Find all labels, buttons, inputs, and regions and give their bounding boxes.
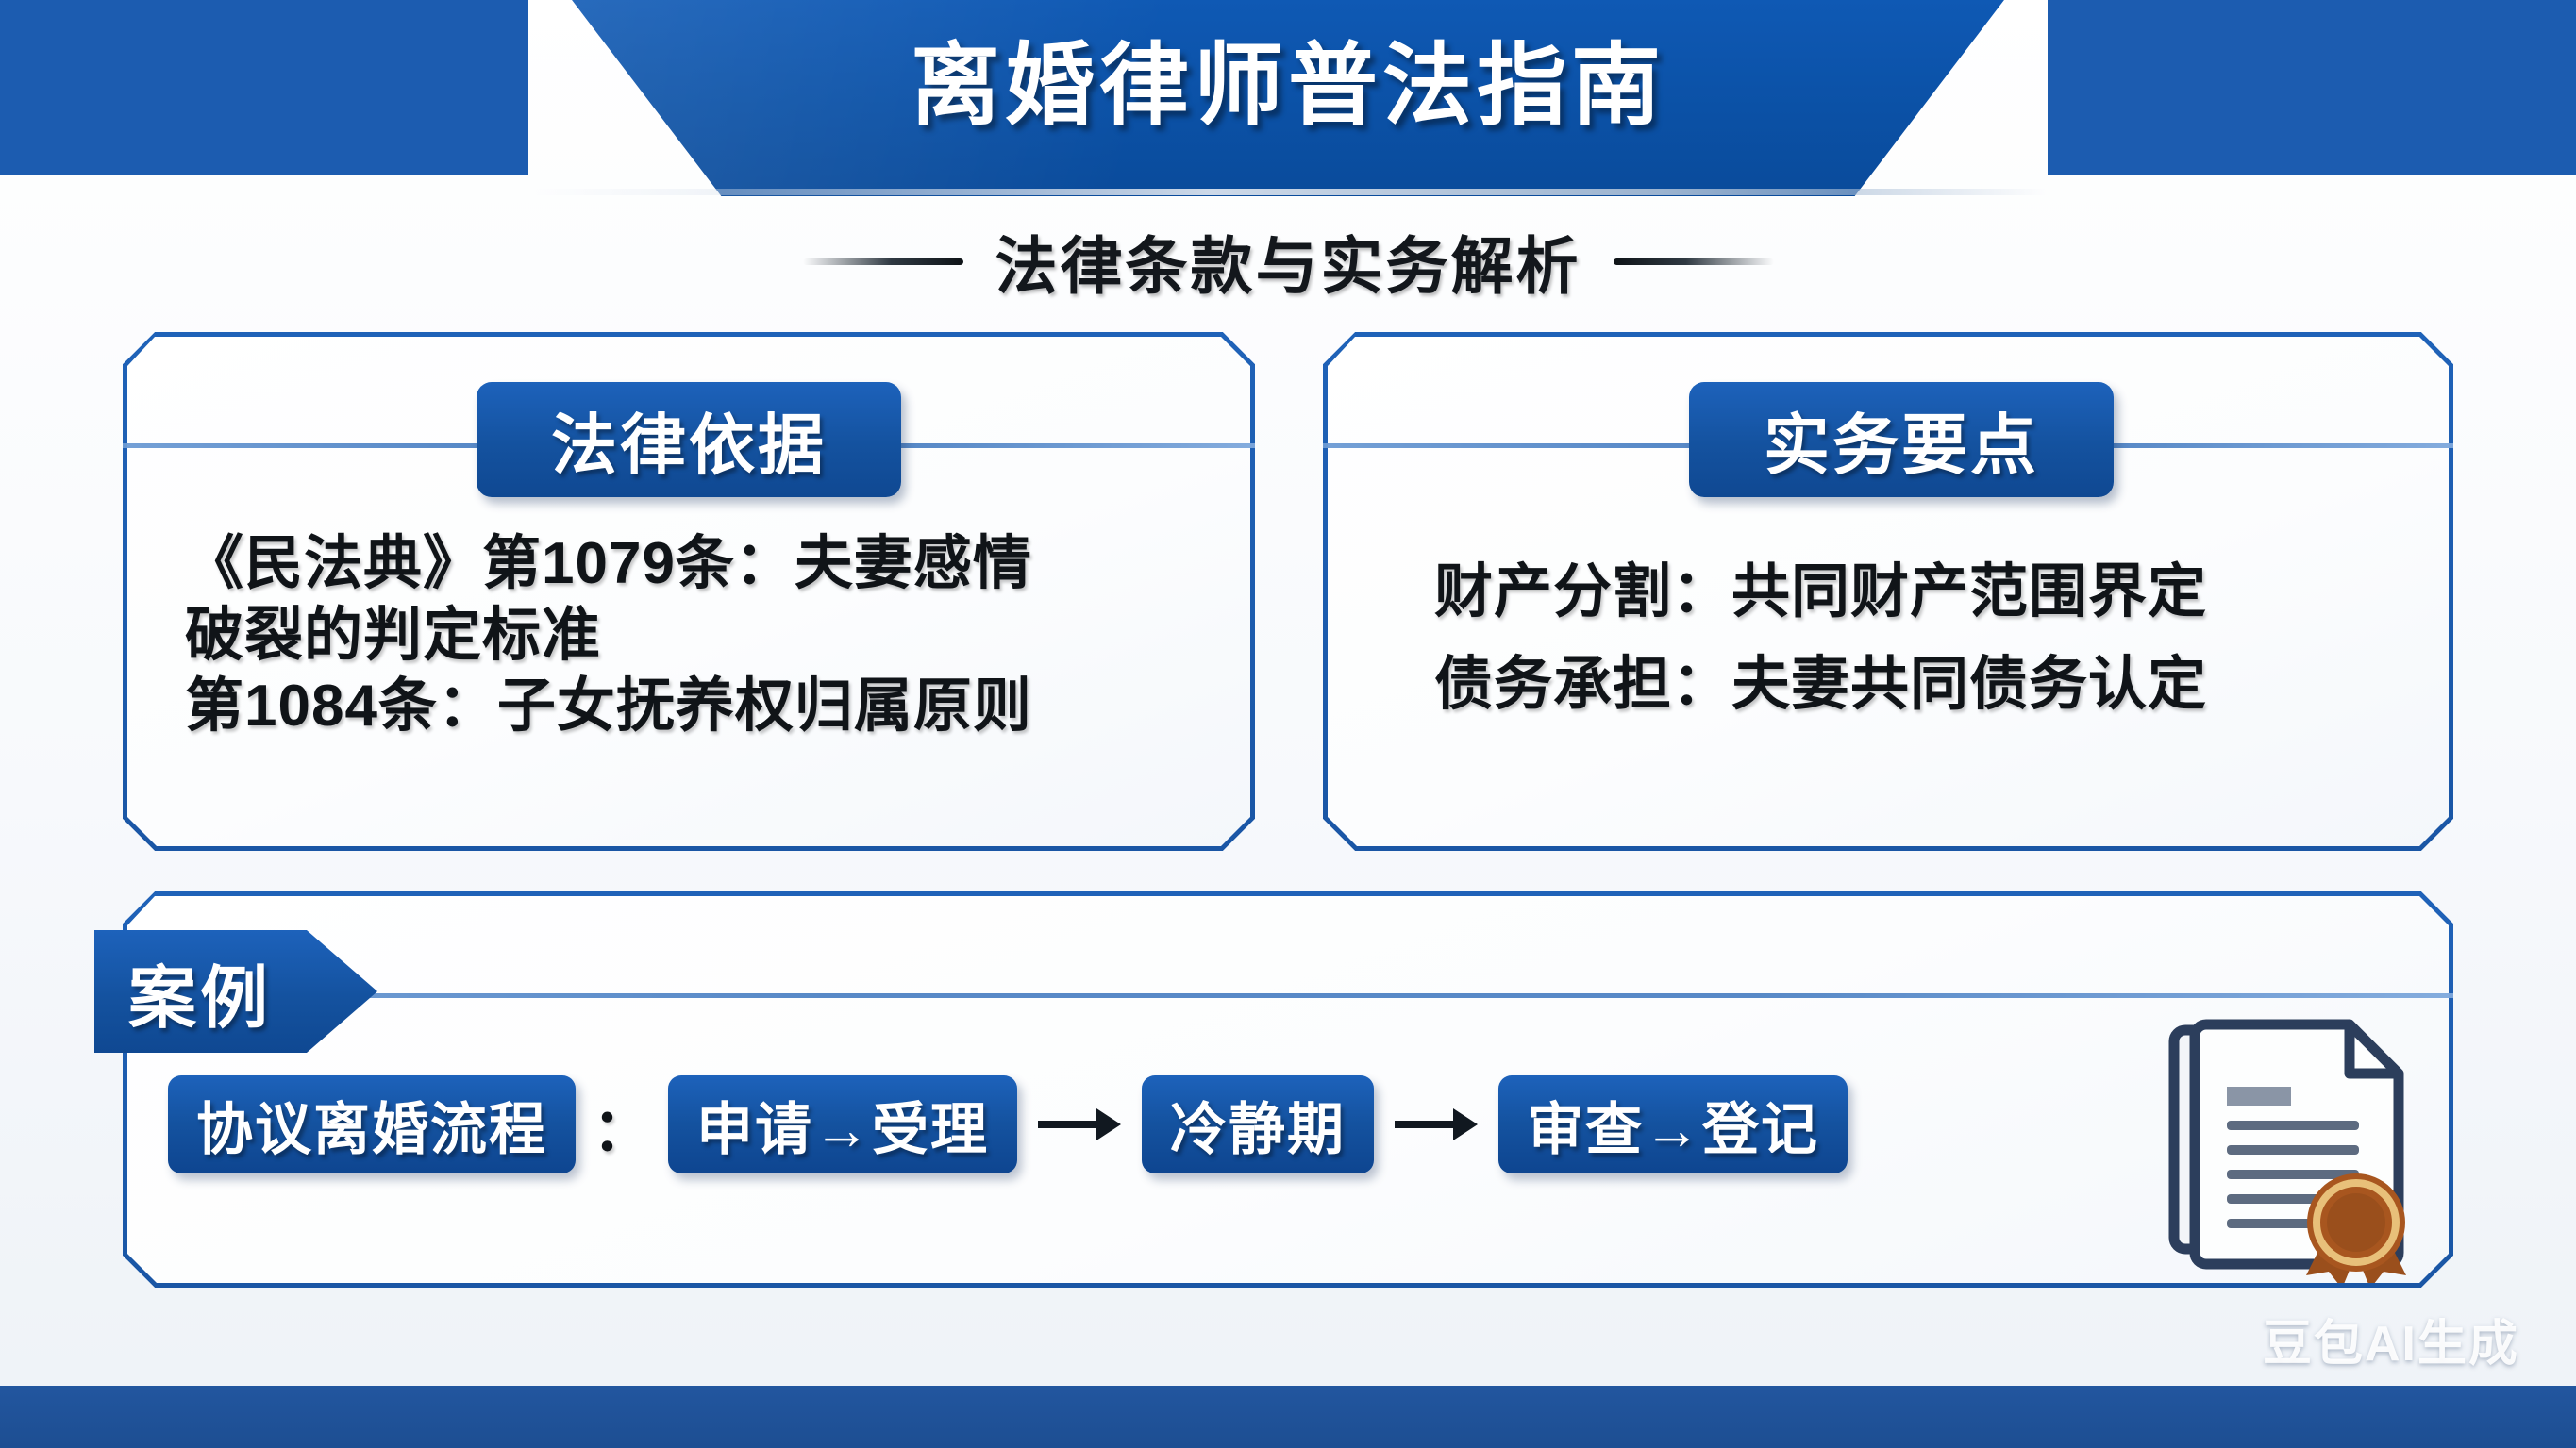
flow-arrow-1-shaft	[1038, 1121, 1096, 1128]
flow-step-3-text: 审查→登记	[1527, 1084, 1819, 1166]
flow-step-2-text: 冷静期	[1170, 1084, 1346, 1166]
page-subtitle: 法律条款与实务解析	[995, 216, 1581, 307]
flow-arrow-1-head	[1096, 1108, 1121, 1140]
card-case-divider	[123, 993, 2453, 998]
subtitle-rule-left	[803, 258, 963, 265]
card-practice-points-line-1: 财产分割：共同财产范围界定	[1434, 557, 2434, 628]
subtitle-row: 法律条款与实务解析	[0, 209, 2576, 313]
card-practice-points-line-2: 债务承担：夫妻共同债务认定	[1434, 649, 2434, 721]
flow-step-1-text: 申请→受理	[696, 1084, 989, 1166]
badge-case-label: 案例	[94, 942, 272, 1041]
badge-legal-basis-label: 法律依据	[551, 392, 827, 488]
process-flow: 协议离婚流程 ： 申请→受理 冷静期 审查→登记	[168, 1075, 1848, 1173]
watermark: 豆包AI生成	[2263, 1304, 2519, 1374]
flow-label-text: 协议离婚流程	[196, 1084, 547, 1166]
subtitle-rule-right	[1614, 258, 1774, 265]
header-banner: 离婚律师普法指南	[0, 0, 2576, 196]
card-legal-basis-line-2: 破裂的判定标准	[185, 600, 1223, 672]
bottom-bar	[0, 1386, 2576, 1448]
card-legal-basis-line-3: 第1084条：子女抚养权归属原则	[185, 671, 1223, 742]
flow-arrow-2-shaft	[1395, 1121, 1453, 1128]
flow-label-chip[interactable]: 协议离婚流程	[168, 1075, 576, 1173]
flow-step-2[interactable]: 冷静期	[1142, 1075, 1374, 1173]
flow-step-3[interactable]: 审查→登记	[1498, 1075, 1848, 1173]
card-practice-points-body: 财产分割：共同财产范围界定 债务承担：夫妻共同债务认定	[1434, 557, 2434, 720]
badge-legal-basis: 法律依据	[477, 382, 901, 497]
slide-canvas: 离婚律师普法指南 法律条款与实务解析 法律依据 《民法典》第1079条：夫妻感情…	[0, 0, 2576, 1448]
badge-practice-points: 实务要点	[1689, 382, 2114, 497]
flow-colon: ：	[593, 1082, 651, 1167]
flow-arrow-2-head	[1453, 1108, 1478, 1140]
flow-arrow-1-icon	[1038, 1108, 1121, 1140]
card-legal-basis-body: 《民法典》第1079条：夫妻感情 破裂的判定标准 第1084条：子女抚养权归属原…	[185, 528, 1223, 742]
badge-practice-points-label: 实务要点	[1764, 392, 2039, 488]
card-legal-basis-line-1: 《民法典》第1079条：夫妻感情	[185, 528, 1223, 600]
page-title: 离婚律师普法指南	[0, 13, 2576, 142]
flow-step-1[interactable]: 申请→受理	[668, 1075, 1017, 1173]
certificate-document-icon	[2161, 1009, 2444, 1283]
header-underline	[528, 189, 2048, 195]
flow-arrow-2-icon	[1395, 1108, 1478, 1140]
